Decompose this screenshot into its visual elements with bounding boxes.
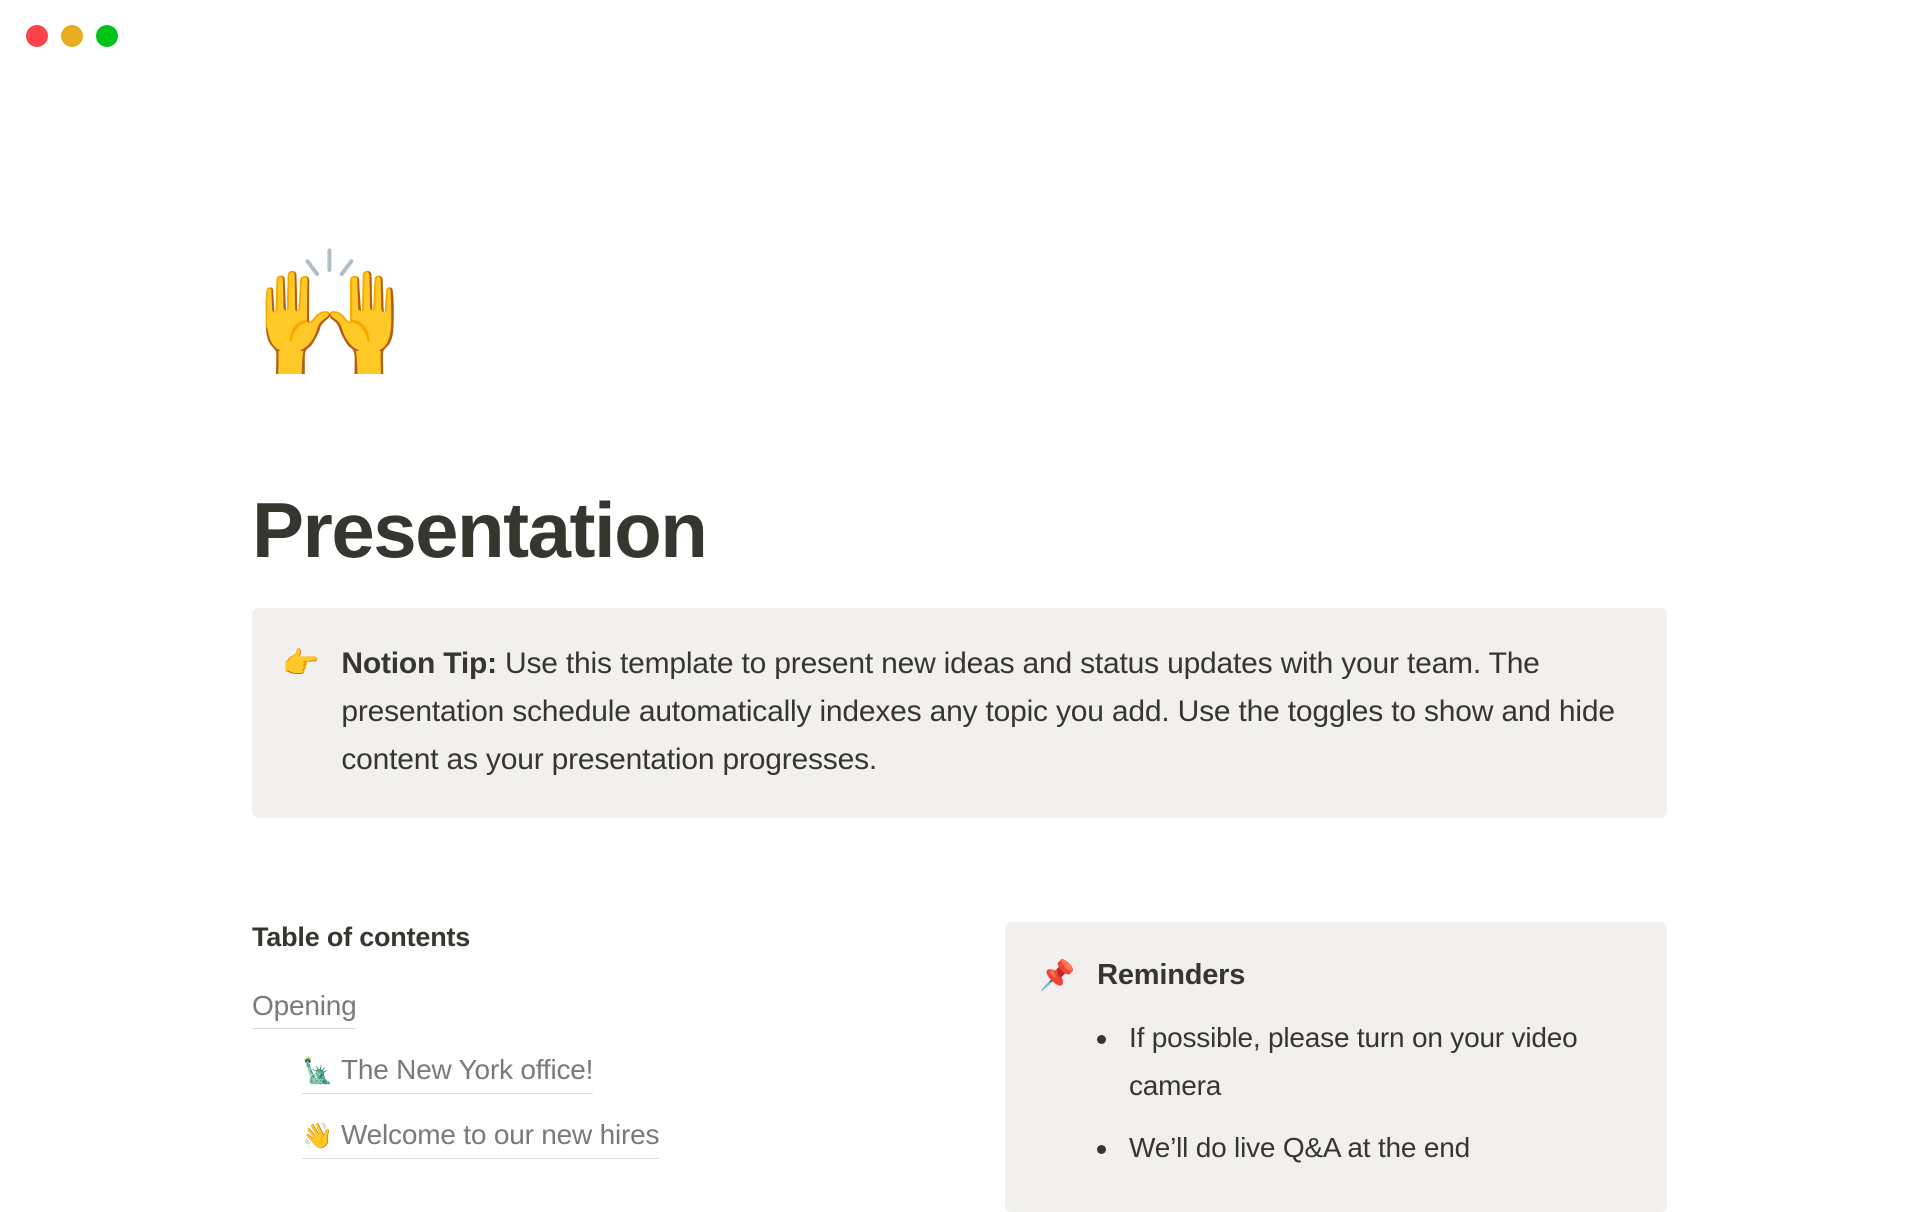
pointing-right-icon: 👉 (282, 640, 319, 687)
callout-text: Notion Tip: Use this template to present… (341, 640, 1631, 784)
reminders-header: 📌 Reminders (1039, 956, 1629, 994)
list-item: We’ll do live Q&A at the end (1091, 1124, 1629, 1172)
waving-hand-icon: 👋 (302, 1121, 333, 1150)
page-title[interactable]: Presentation (252, 488, 706, 574)
raising-hands-icon[interactable]: 🙌 (252, 252, 408, 377)
toc-item-label: The New York office! (341, 1054, 593, 1085)
pushpin-icon: 📌 (1039, 956, 1075, 994)
zoom-window-button[interactable] (96, 25, 118, 47)
reminders-column: 📌 Reminders If possible, please turn on … (1005, 922, 1667, 1212)
reminders-title: Reminders (1097, 956, 1245, 994)
notion-tip-callout[interactable]: 👉 Notion Tip: Use this template to prese… (252, 608, 1667, 818)
columns-container: Table of contents Opening 🗽The New York … (252, 922, 1667, 1212)
reminders-list: If possible, please turn on your video c… (1039, 1014, 1629, 1172)
list-item: If possible, please turn on your video c… (1091, 1014, 1629, 1110)
callout-body: Use this template to present new ideas a… (341, 647, 1615, 776)
table-of-contents-column: Table of contents Opening 🗽The New York … (252, 922, 1005, 1212)
toc-item-label: Welcome to our new hires (341, 1119, 659, 1150)
close-window-button[interactable] (26, 25, 48, 47)
toc-link-welcome-to-our-new-hires[interactable]: 👋Welcome to our new hires (302, 1116, 659, 1159)
toc-link-opening[interactable]: Opening (252, 987, 356, 1029)
document-page: 🙌 Presentation 👉 Notion Tip: Use this te… (0, 72, 1920, 1200)
window-titlebar (0, 0, 1920, 72)
callout-label: Notion Tip: (341, 647, 497, 680)
toc-item-label: Opening (252, 990, 356, 1021)
toc-link-the-new-york-office[interactable]: 🗽The New York office! (302, 1051, 593, 1094)
reminders-callout[interactable]: 📌 Reminders If possible, please turn on … (1005, 922, 1667, 1212)
minimize-window-button[interactable] (61, 25, 83, 47)
statue-of-liberty-icon: 🗽 (302, 1056, 333, 1085)
table-of-contents-heading: Table of contents (252, 922, 1005, 953)
